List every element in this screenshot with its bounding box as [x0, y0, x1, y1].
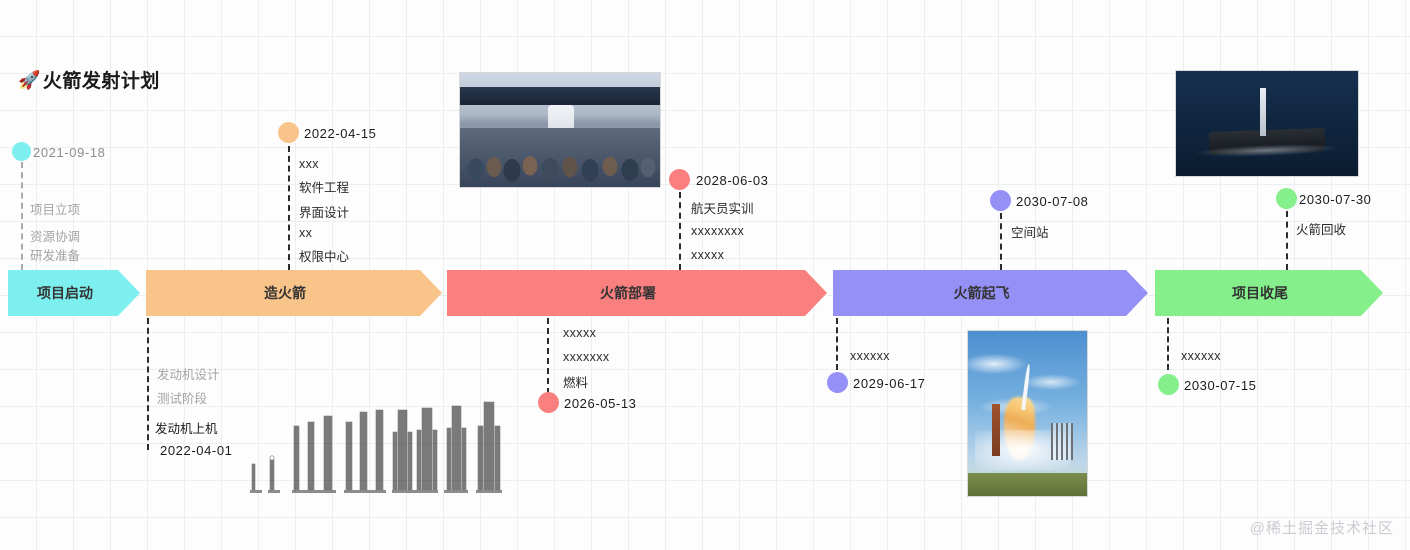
milestone-connector-below-4: [1167, 318, 1169, 370]
milestone-item: xxxxxx: [1181, 349, 1221, 363]
milestone-item: 项目立项: [30, 199, 80, 218]
milestone-date-below-4: 2030-07-15: [1184, 378, 1257, 393]
milestone-date-3: 2028-06-03: [696, 173, 769, 188]
milestone-connector-3: [679, 192, 681, 270]
milestone-item: 发动机设计: [157, 364, 220, 383]
milestone-item: xx: [299, 226, 312, 240]
milestone-item: 火箭回收: [1296, 219, 1346, 238]
milestone-date-below-1: 2022-04-01: [160, 443, 233, 458]
milestone-connector-below-3: [836, 318, 838, 370]
watermark: @稀土掘金技术社区: [1250, 517, 1394, 538]
milestone-item: xxxxxxx: [563, 350, 610, 364]
phase-arrow-4[interactable]: 火箭起飞: [833, 270, 1148, 316]
milestone-item: 发动机上机: [155, 418, 218, 437]
milestone-item: 权限中心: [299, 246, 349, 265]
milestone-item: 研发准备: [30, 245, 80, 264]
page-title-text: 火箭发射计划: [43, 66, 160, 93]
milestone-dot-below-4[interactable]: [1158, 374, 1179, 395]
phase-label-1: 项目启动: [37, 283, 93, 303]
milestone-item: 测试阶段: [157, 388, 207, 407]
milestone-connector-2: [288, 146, 290, 270]
timeline-canvas: 🚀 火箭发射计划: [0, 0, 1410, 550]
milestone-date-below-3: 2029-06-17: [853, 376, 926, 391]
milestone-connector-4: [1000, 213, 1002, 270]
milestone-dot-below-2[interactable]: [538, 392, 559, 413]
milestone-connector-below-1: [147, 318, 149, 450]
milestone-date-1: 2021-09-18: [33, 145, 106, 160]
milestone-date-4: 2030-07-08: [1016, 194, 1089, 209]
milestone-dot-2[interactable]: [278, 122, 299, 143]
milestone-date-2: 2022-04-15: [304, 126, 377, 141]
phase-label-2: 造火箭: [264, 283, 306, 303]
phase-arrow-3[interactable]: 火箭部署: [447, 270, 827, 316]
milestone-item: 软件工程: [299, 177, 349, 196]
phase-arrow-2[interactable]: 造火箭: [146, 270, 442, 316]
milestone-item: 航天员实训: [691, 198, 754, 217]
milestone-connector-below-2: [547, 318, 549, 394]
rocket-launch-photo: [967, 330, 1088, 497]
milestone-item: 空间站: [1011, 222, 1049, 241]
milestone-dot-below-3[interactable]: [827, 372, 848, 393]
milestone-connector-5: [1286, 211, 1288, 270]
page-title: 🚀 火箭发射计划: [18, 66, 160, 93]
milestone-item: 燃料: [563, 372, 588, 391]
phase-arrow-1[interactable]: 项目启动: [8, 270, 140, 316]
milestone-dot-1[interactable]: [12, 142, 31, 161]
spacex-team-photo: [459, 72, 661, 188]
rocket-icon: 🚀: [18, 71, 41, 89]
milestone-item: xxxxxxxx: [691, 224, 744, 238]
phase-label-4: 火箭起飞: [954, 283, 1010, 303]
milestone-item: 界面设计: [299, 202, 349, 221]
milestone-dot-4[interactable]: [990, 190, 1011, 211]
milestone-item: 资源协调: [30, 226, 80, 245]
milestone-item: xxxxxx: [850, 349, 890, 363]
milestone-date-5: 2030-07-30: [1299, 192, 1372, 207]
milestone-dot-5[interactable]: [1276, 188, 1297, 209]
milestone-item: xxx: [299, 157, 319, 171]
phase-label-3: 火箭部署: [600, 283, 656, 303]
phase-arrow-5[interactable]: 项目收尾: [1155, 270, 1383, 316]
droneship-landing-photo: [1175, 70, 1359, 177]
milestone-dot-3[interactable]: [669, 169, 690, 190]
phase-label-5: 项目收尾: [1232, 283, 1288, 303]
milestone-connector-1: [21, 162, 23, 270]
milestone-date-below-2: 2026-05-13: [564, 396, 637, 411]
rocket-family-diagram: [246, 382, 514, 500]
milestone-item: xxxxx: [691, 248, 724, 262]
milestone-item: xxxxx: [563, 326, 596, 340]
